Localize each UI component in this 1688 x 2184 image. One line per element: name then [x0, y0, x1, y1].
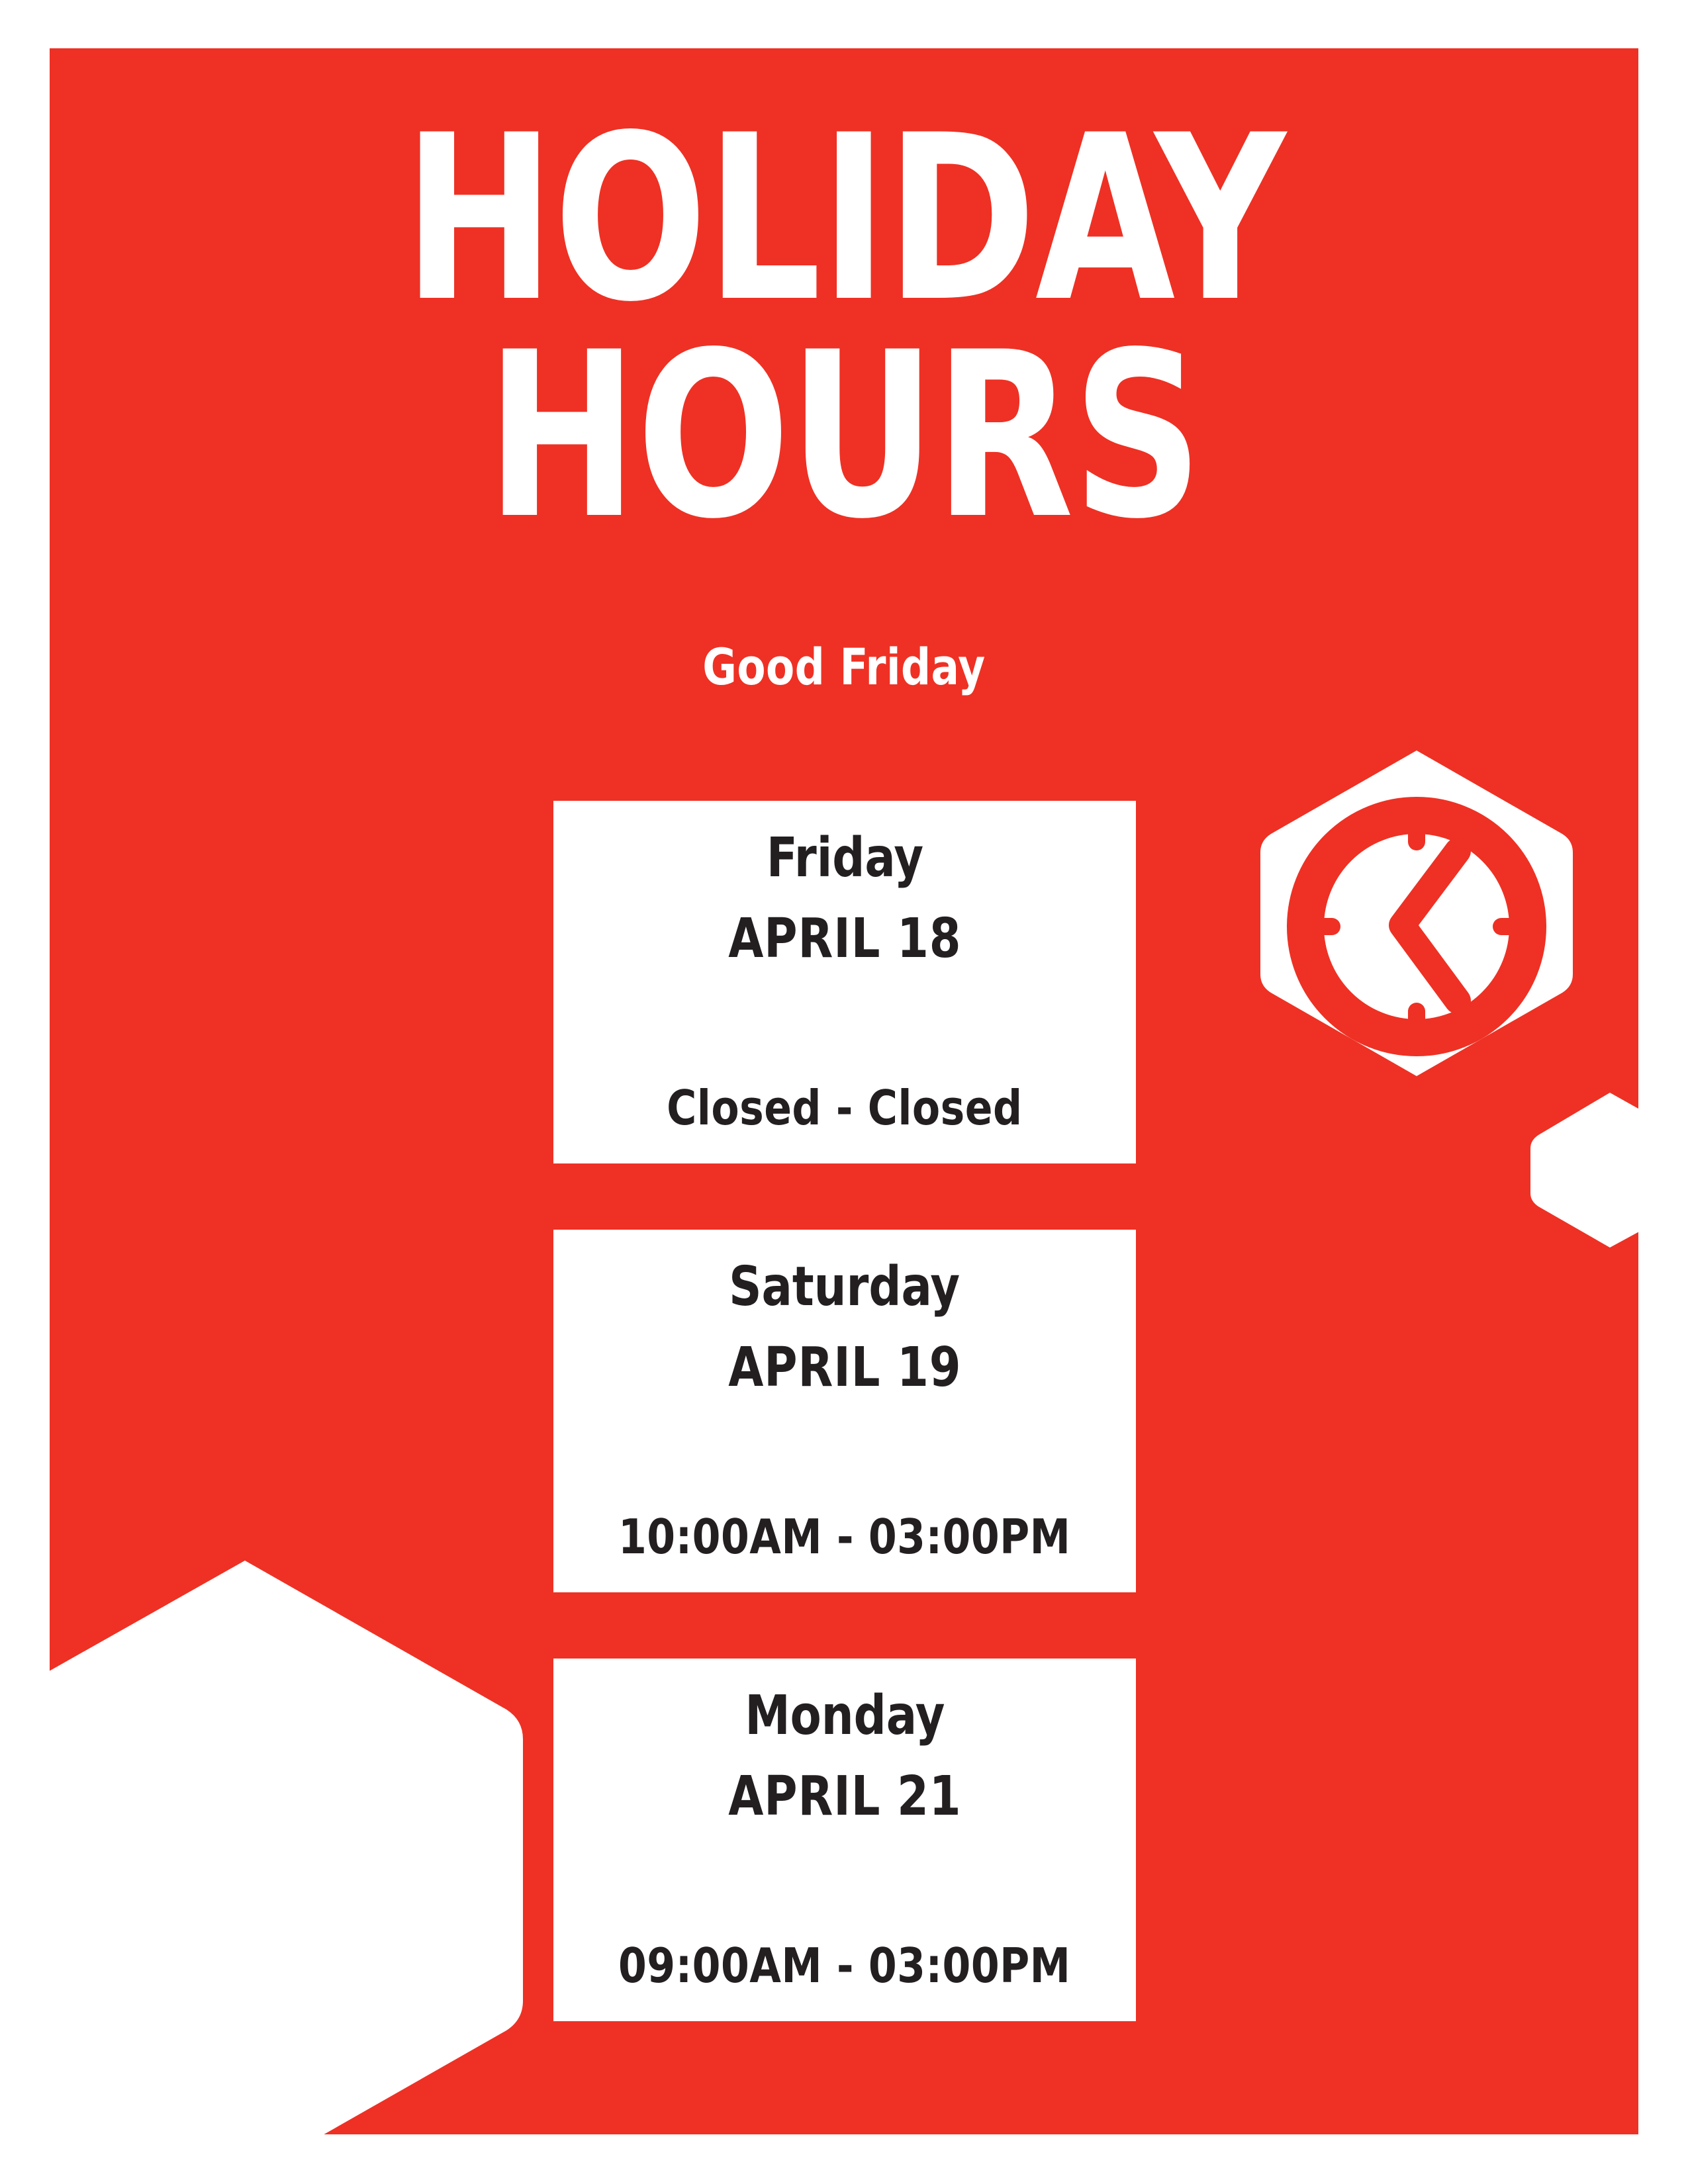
small-hexagon-shape	[1529, 1089, 1638, 1251]
poster-subtitle: Good Friday	[113, 637, 1575, 696]
schedule-day-name: Saturday	[729, 1260, 961, 1314]
schedule-hours: 10:00AM - 03:00PM	[618, 1513, 1070, 1561]
large-hexagon-shape	[50, 1511, 533, 2134]
schedule-hours: 09:00AM - 03:00PM	[618, 1942, 1070, 1989]
title-line-holiday: HOLIDAY	[145, 111, 1543, 328]
schedule-card: Saturday APRIL 19 10:00AM - 03:00PM	[553, 1230, 1136, 1592]
schedule-day-name: Friday	[766, 831, 923, 886]
schedule-day-name: Monday	[745, 1689, 945, 1743]
schedule-card-list: Friday APRIL 18 Closed - Closed Saturday…	[553, 801, 1136, 2021]
schedule-date: APRIL 21	[728, 1770, 961, 1824]
schedule-card: Monday APRIL 21 09:00AM - 03:00PM	[553, 1659, 1136, 2021]
schedule-card: Friday APRIL 18 Closed - Closed	[553, 801, 1136, 1163]
schedule-hours: Closed - Closed	[667, 1084, 1022, 1132]
page-title: HOLIDAY HOURS	[50, 111, 1638, 545]
schedule-date: APRIL 18	[728, 912, 961, 966]
title-line-hours: HOURS	[145, 328, 1543, 545]
schedule-date: APRIL 19	[728, 1341, 961, 1395]
poster-background-panel: HOLIDAY HOURS Good Friday Friday APRIL 1…	[50, 48, 1638, 2134]
holiday-hours-poster: HOLIDAY HOURS Good Friday Friday APRIL 1…	[0, 0, 1688, 2184]
clock-icon	[1251, 741, 1582, 1085]
